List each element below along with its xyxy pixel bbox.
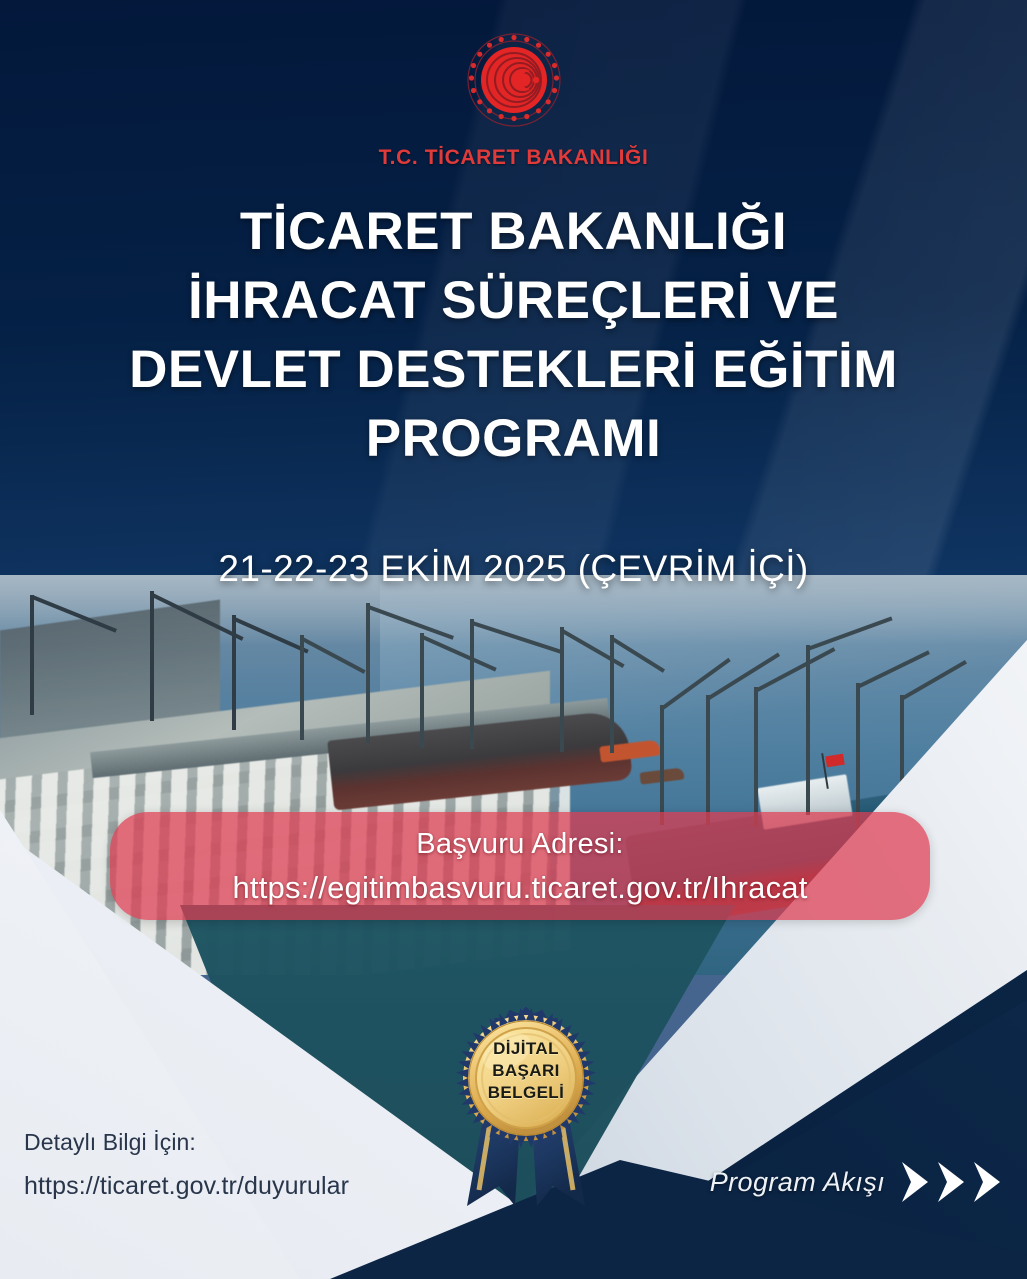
ministry-name-caption: T.C. TİCARET BAKANLIĞI [379,146,649,170]
more-info-block: Detaylı Bilgi İçin: https://ticaret.gov.… [24,1130,349,1201]
seal-line-3: BELGELİ [443,1082,609,1104]
more-info-url[interactable]: https://ticaret.gov.tr/duyurular [24,1173,349,1201]
event-date: 21-22-23 EKİM 2025 (ÇEVRİM İÇİ) [0,548,1027,590]
tc-ticaret-bakanligi-emblem-icon [460,26,568,134]
photo-crane [560,627,564,752]
more-info-label: Detaylı Bilgi İçin: [24,1130,349,1155]
chevron-right-icon [899,1160,931,1204]
photo-crane [150,591,154,721]
photo-crane [470,619,474,749]
photo-crane [754,687,758,827]
title-line-3: DEVLET DESTEKLERİ EĞİTİM [30,336,997,405]
digital-achievement-seal: DİJİTAL BAŞARI BELGELİ [443,1000,609,1215]
photo-crane [366,603,370,743]
program-flow-block[interactable]: Program Akışı [710,1160,1003,1204]
photo-crane [420,633,424,748]
seal-text: DİJİTAL BAŞARI BELGELİ [443,1038,609,1103]
ministry-logo-block: T.C. TİCARET BAKANLIĞI [0,26,1027,170]
chevron-right-icon [971,1160,1003,1204]
photo-crane [806,645,810,815]
photo-crane [660,705,664,825]
seal-line-2: BAŞARI [443,1060,609,1082]
chevron-group [899,1160,1003,1204]
application-banner[interactable]: Başvuru Adresi: https://egitimbasvuru.ti… [110,812,930,920]
photo-crane [232,615,236,730]
application-url[interactable]: https://egitimbasvuru.ticaret.gov.tr/Ihr… [110,870,930,906]
photo-crane [706,695,710,825]
poster-canvas: T.C. TİCARET BAKANLIĞI TİCARET BAKANLIĞI… [0,0,1027,1279]
photo-crane [30,595,34,715]
program-flow-label: Program Akışı [710,1167,885,1198]
title-line-2: İHRACAT SÜREÇLERİ VE [30,267,997,336]
chevron-right-icon [935,1160,967,1204]
photo-crane [856,683,860,833]
application-label: Başvuru Adresi: [110,828,930,861]
photo-crane [610,635,614,753]
title-line-4: PROGRAMI [30,405,997,474]
title-line-1: TİCARET BAKANLIĞI [30,198,997,267]
photo-crane [300,635,304,740]
page-title: TİCARET BAKANLIĞI İHRACAT SÜREÇLERİ VE D… [0,198,1027,474]
seal-line-1: DİJİTAL [443,1038,609,1060]
